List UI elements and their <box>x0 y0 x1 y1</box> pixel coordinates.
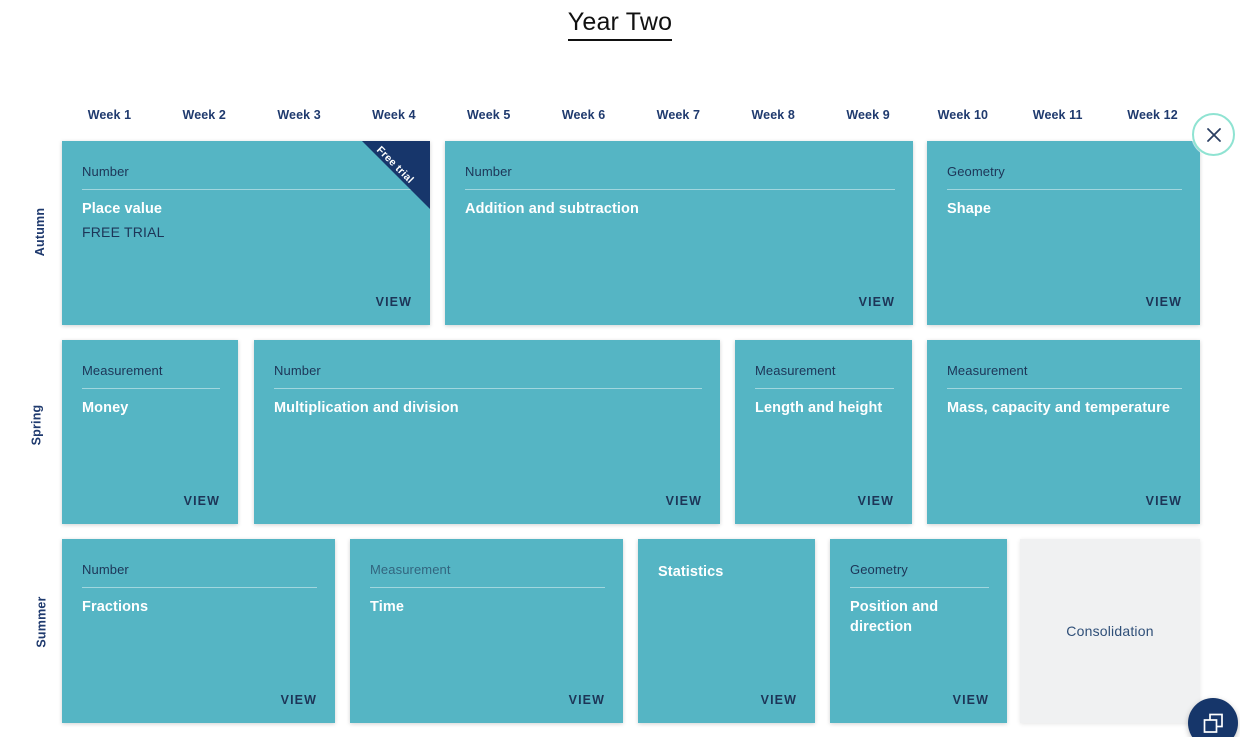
view-button[interactable]: VIEW <box>376 295 412 309</box>
topic-card-position-and-direction[interactable]: Geometry Position and direction VIEW <box>830 539 1007 723</box>
view-button[interactable]: VIEW <box>666 494 702 508</box>
term-row-spring: Measurement Money VIEW Number Multiplica… <box>62 340 1200 524</box>
close-icon <box>1205 126 1223 144</box>
copy-windows-icon <box>1200 710 1226 736</box>
topic-card-subtitle: FREE TRIAL <box>82 224 165 240</box>
season-label-spring: Spring <box>16 418 44 432</box>
topic-card-title: Position and direction <box>850 597 985 637</box>
page-title-text: Year Two <box>568 8 672 41</box>
topic-card-time[interactable]: Measurement Time VIEW <box>350 539 623 723</box>
week-header-cell: Week 4 <box>346 106 441 126</box>
season-label-text: Spring <box>29 405 43 446</box>
topic-card-title: Mass, capacity and temperature <box>947 398 1178 418</box>
topic-card-divider <box>274 388 702 389</box>
season-label-summer: Summer <box>16 615 44 629</box>
view-button[interactable]: VIEW <box>569 693 605 707</box>
view-button[interactable]: VIEW <box>761 693 797 707</box>
topic-card-category: Geometry <box>850 562 908 577</box>
topic-card-category: Measurement <box>82 363 163 378</box>
topic-card-divider <box>82 189 412 190</box>
topic-card-divider <box>370 587 605 588</box>
week-header-cell: Week 10 <box>915 106 1010 126</box>
week-header-cell: Week 8 <box>726 106 821 126</box>
topic-card-divider <box>755 388 894 389</box>
week-header-cell: Week 9 <box>821 106 916 126</box>
week-header-cell: Week 7 <box>631 106 726 126</box>
floating-action-button[interactable] <box>1188 698 1238 737</box>
week-header-cell: Week 5 <box>441 106 536 126</box>
topic-card-title: Money <box>82 398 216 418</box>
topic-card-divider <box>850 587 989 588</box>
topic-card-category: Number <box>274 363 321 378</box>
close-button[interactable] <box>1192 113 1235 156</box>
view-button[interactable]: VIEW <box>184 494 220 508</box>
view-button[interactable]: VIEW <box>281 693 317 707</box>
season-label-text: Autumn <box>33 208 47 256</box>
week-header-cell: Week 1 <box>62 106 157 126</box>
topic-card-title: Addition and subtraction <box>465 199 891 219</box>
topic-card-multiplication-and-division[interactable]: Number Multiplication and division VIEW <box>254 340 720 524</box>
topic-card-divider <box>82 388 220 389</box>
view-button[interactable]: VIEW <box>1146 494 1182 508</box>
topic-card-shape[interactable]: Geometry Shape VIEW <box>927 141 1200 325</box>
topic-card-addition-and-subtraction[interactable]: Number Addition and subtraction VIEW <box>445 141 913 325</box>
topic-card-title: Place value <box>82 199 408 219</box>
topic-card-mass-capacity-and-temperature[interactable]: Measurement Mass, capacity and temperatu… <box>927 340 1200 524</box>
topic-card-statistics[interactable]: Statistics VIEW <box>638 539 815 723</box>
topic-card-divider <box>82 587 317 588</box>
view-button[interactable]: VIEW <box>858 494 894 508</box>
week-header-cell: Week 12 <box>1105 106 1200 126</box>
topic-card-category: Measurement <box>947 363 1028 378</box>
week-header-cell: Week 11 <box>1010 106 1105 126</box>
topic-card-category: Number <box>82 164 129 179</box>
topic-card-title: Multiplication and division <box>274 398 698 418</box>
topic-card-category: Measurement <box>755 363 836 378</box>
week-header-cell: Week 2 <box>157 106 252 126</box>
topic-card-title: Time <box>370 597 601 617</box>
week-header-cell: Week 6 <box>536 106 631 126</box>
view-button[interactable]: VIEW <box>859 295 895 309</box>
year-overview-page: Year Two Week 1 Week 2 Week 3 Week 4 Wee… <box>0 0 1240 737</box>
topic-card-category: Measurement <box>370 562 451 577</box>
topic-card-fractions[interactable]: Number Fractions VIEW <box>62 539 335 723</box>
season-label-text: Summer <box>35 596 49 647</box>
topic-card-title: Statistics <box>658 562 793 582</box>
term-row-summer: Number Fractions VIEW Measurement Time V… <box>62 539 1200 723</box>
topic-card-category: Geometry <box>947 164 1005 179</box>
consolidation-label: Consolidation <box>1066 623 1153 639</box>
topic-card-divider <box>947 388 1182 389</box>
topic-card-title: Fractions <box>82 597 313 617</box>
season-label-autumn: Autumn <box>16 225 44 239</box>
topic-card-category: Number <box>465 164 512 179</box>
topic-card-length-and-height[interactable]: Measurement Length and height VIEW <box>735 340 912 524</box>
consolidation-card: Consolidation <box>1020 539 1200 723</box>
page-title: Year Two <box>0 8 1240 37</box>
view-button[interactable]: VIEW <box>953 693 989 707</box>
topic-card-place-value[interactable]: Number Place value FREE TRIAL VIEW Free … <box>62 141 430 325</box>
view-button[interactable]: VIEW <box>1146 295 1182 309</box>
topic-card-category: Number <box>82 562 129 577</box>
topic-card-divider <box>465 189 895 190</box>
topic-card-title: Shape <box>947 199 1178 219</box>
week-header-cell: Week 3 <box>252 106 347 126</box>
topic-card-money[interactable]: Measurement Money VIEW <box>62 340 238 524</box>
week-header: Week 1 Week 2 Week 3 Week 4 Week 5 Week … <box>62 106 1200 126</box>
topic-card-title: Length and height <box>755 398 890 418</box>
term-row-autumn: Number Place value FREE TRIAL VIEW Free … <box>62 141 1200 325</box>
topic-card-divider <box>947 189 1182 190</box>
